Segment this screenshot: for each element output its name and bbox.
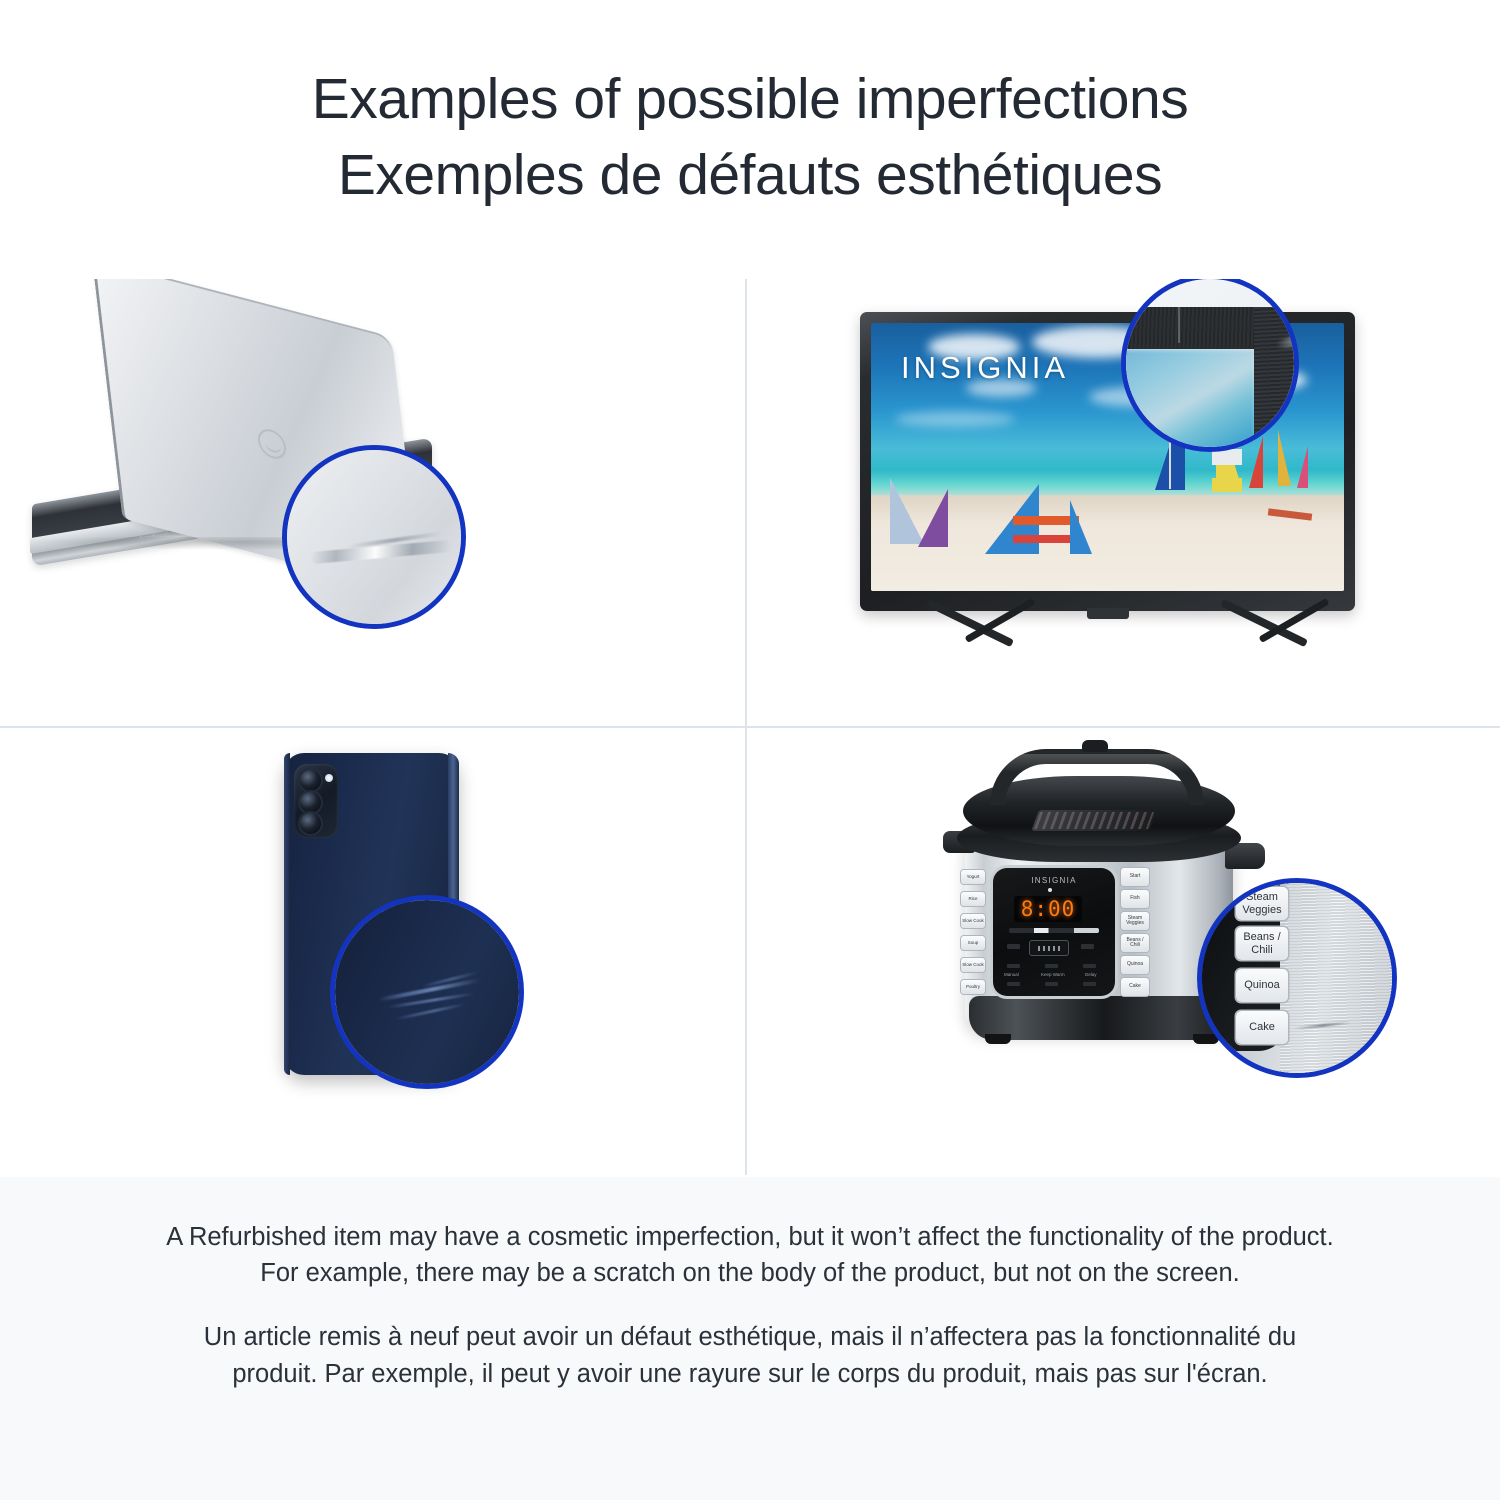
cooker-magnified-button: Beans / Chili bbox=[1236, 927, 1288, 960]
cooker-button[interactable]: Steam Veggies bbox=[1121, 912, 1149, 930]
magnifier-circle-pressure-cooker: Steam Veggies Beans / Chili Quinoa Cake bbox=[1197, 878, 1397, 1078]
cooker-magnified-steel-surface bbox=[1280, 883, 1397, 1073]
caption-french: Un article remis à neuf peut avoir un dé… bbox=[160, 1319, 1340, 1391]
cooker-magnified-button: Steam Veggies bbox=[1236, 887, 1288, 920]
tv-magnified-screen-area bbox=[1121, 349, 1256, 452]
sailboat-yellow-stripe bbox=[1212, 478, 1242, 492]
magnifier-content-laptop bbox=[287, 450, 461, 624]
television-illustration: INSIGNIA bbox=[747, 279, 1492, 726]
camera-module bbox=[294, 764, 338, 838]
product-examples-grid: INSIGNIA bbox=[0, 279, 1500, 1175]
cooker-foot bbox=[985, 1034, 1011, 1044]
caption-band: A Refurbished item may have a cosmetic i… bbox=[0, 1177, 1500, 1500]
cooker-button[interactable]: Soup bbox=[961, 936, 985, 950]
camera-lens-icon bbox=[300, 813, 321, 834]
cooker-button[interactable]: Cake bbox=[1121, 978, 1149, 996]
cooker-panel-key[interactable] bbox=[1007, 982, 1020, 986]
cooker-brand-label: INSIGNIA bbox=[993, 876, 1115, 885]
camera-flash-icon bbox=[325, 774, 333, 782]
cell-laptop bbox=[0, 279, 745, 726]
page-title-fr: Exemples de défauts esthétiques bbox=[0, 138, 1500, 214]
cooker-panel-label: Keep Warm bbox=[1041, 972, 1065, 977]
cooker-panel-key[interactable] bbox=[1083, 982, 1096, 986]
magnifier-circle-laptop bbox=[282, 445, 466, 629]
cooker-pressure-level-button[interactable] bbox=[1029, 940, 1069, 956]
tv-center-module bbox=[1087, 608, 1129, 619]
cooker-panel-label: Manual bbox=[1004, 972, 1019, 977]
sailboat-pink bbox=[1297, 446, 1308, 488]
cooker-panel-key[interactable] bbox=[1007, 964, 1020, 968]
laptop-illustration bbox=[0, 279, 745, 726]
cooker-button[interactable]: Yogurt bbox=[961, 870, 985, 884]
cooker-mode-indicator-bar bbox=[1009, 928, 1099, 933]
magnifier-content-pressure-cooker: Steam Veggies Beans / Chili Quinoa Cake bbox=[1202, 883, 1392, 1073]
cooker-steam-valve bbox=[1082, 740, 1108, 752]
cooker-plus-button[interactable] bbox=[1081, 944, 1094, 949]
refurbished-imperfections-infographic: Examples of possible imperfections Exemp… bbox=[0, 0, 1500, 1500]
cooker-button[interactable]: Poultry bbox=[961, 980, 985, 994]
magnifier-content-television bbox=[1126, 279, 1294, 447]
magnifier-circle-television bbox=[1121, 279, 1299, 452]
cooker-panel-label: Delay bbox=[1085, 972, 1097, 977]
camera-lens-icon bbox=[300, 792, 321, 813]
cooker-button[interactable]: Start bbox=[1121, 868, 1149, 886]
cooker-lid-label bbox=[1031, 810, 1157, 831]
cell-smartphone bbox=[0, 728, 745, 1175]
sailboat-small-blue bbox=[1070, 500, 1092, 554]
cooker-display-value: 8:00 bbox=[1021, 897, 1076, 921]
cooker-handle-highlight bbox=[1002, 754, 1192, 772]
camera-lens-icon bbox=[300, 770, 321, 791]
sailboat-purple bbox=[918, 489, 948, 547]
cooker-button[interactable]: Quinoa bbox=[1121, 956, 1149, 974]
cell-television: INSIGNIA bbox=[747, 279, 1492, 726]
cooker-magnified-button: Quinoa bbox=[1236, 969, 1288, 1002]
phone-left-edge bbox=[284, 753, 290, 1075]
tv-magnified-bezel-right bbox=[1254, 307, 1299, 452]
tv-screen-brand-text: INSIGNIA bbox=[901, 350, 1069, 386]
cell-pressure-cooker: Yogurt Rice Slow Cook Soup Slow Cook Pou… bbox=[747, 728, 1492, 1175]
cooker-button[interactable]: Rice bbox=[961, 892, 985, 906]
cooker-led-display: 8:00 bbox=[1014, 896, 1082, 922]
magnifier-content-smartphone bbox=[335, 900, 519, 1084]
smartphone-illustration bbox=[0, 728, 745, 1175]
cooker-panel-key[interactable] bbox=[1083, 964, 1096, 968]
cooker-button[interactable]: Slow Cook bbox=[961, 914, 985, 928]
page-title-en: Examples of possible imperfections bbox=[0, 62, 1500, 138]
tv-magnified-bezel-seam bbox=[1178, 307, 1180, 343]
cooker-left-button-column: Yogurt Rice Slow Cook Soup Slow Cook Pou… bbox=[961, 866, 993, 998]
cooker-magnified-button: Cake bbox=[1236, 1011, 1288, 1044]
pressure-cooker-illustration: Yogurt Rice Slow Cook Soup Slow Cook Pou… bbox=[747, 728, 1492, 1175]
magnifier-circle-smartphone bbox=[330, 895, 524, 1089]
cooker-control-panel[interactable]: INSIGNIA 8:00 Manual Keep Warm Delay bbox=[993, 868, 1115, 996]
cloud-shape bbox=[895, 411, 1015, 427]
cooker-button[interactable]: Slow Cook bbox=[961, 958, 985, 972]
cooker-minus-button[interactable] bbox=[1007, 944, 1020, 949]
cooker-button[interactable]: Beans / Chili bbox=[1121, 934, 1149, 952]
page-title: Examples of possible imperfections Exemp… bbox=[0, 62, 1500, 214]
caption-english: A Refurbished item may have a cosmetic i… bbox=[160, 1219, 1340, 1291]
cooker-right-button-column: Start Fish Steam Veggies Beans / Chili Q… bbox=[1121, 866, 1153, 998]
cooker-indicator-led-icon bbox=[1048, 888, 1052, 892]
cooker-button[interactable]: Fish bbox=[1121, 890, 1149, 908]
cooker-panel-key[interactable] bbox=[1045, 982, 1058, 986]
cooker-panel-key[interactable] bbox=[1045, 964, 1058, 968]
